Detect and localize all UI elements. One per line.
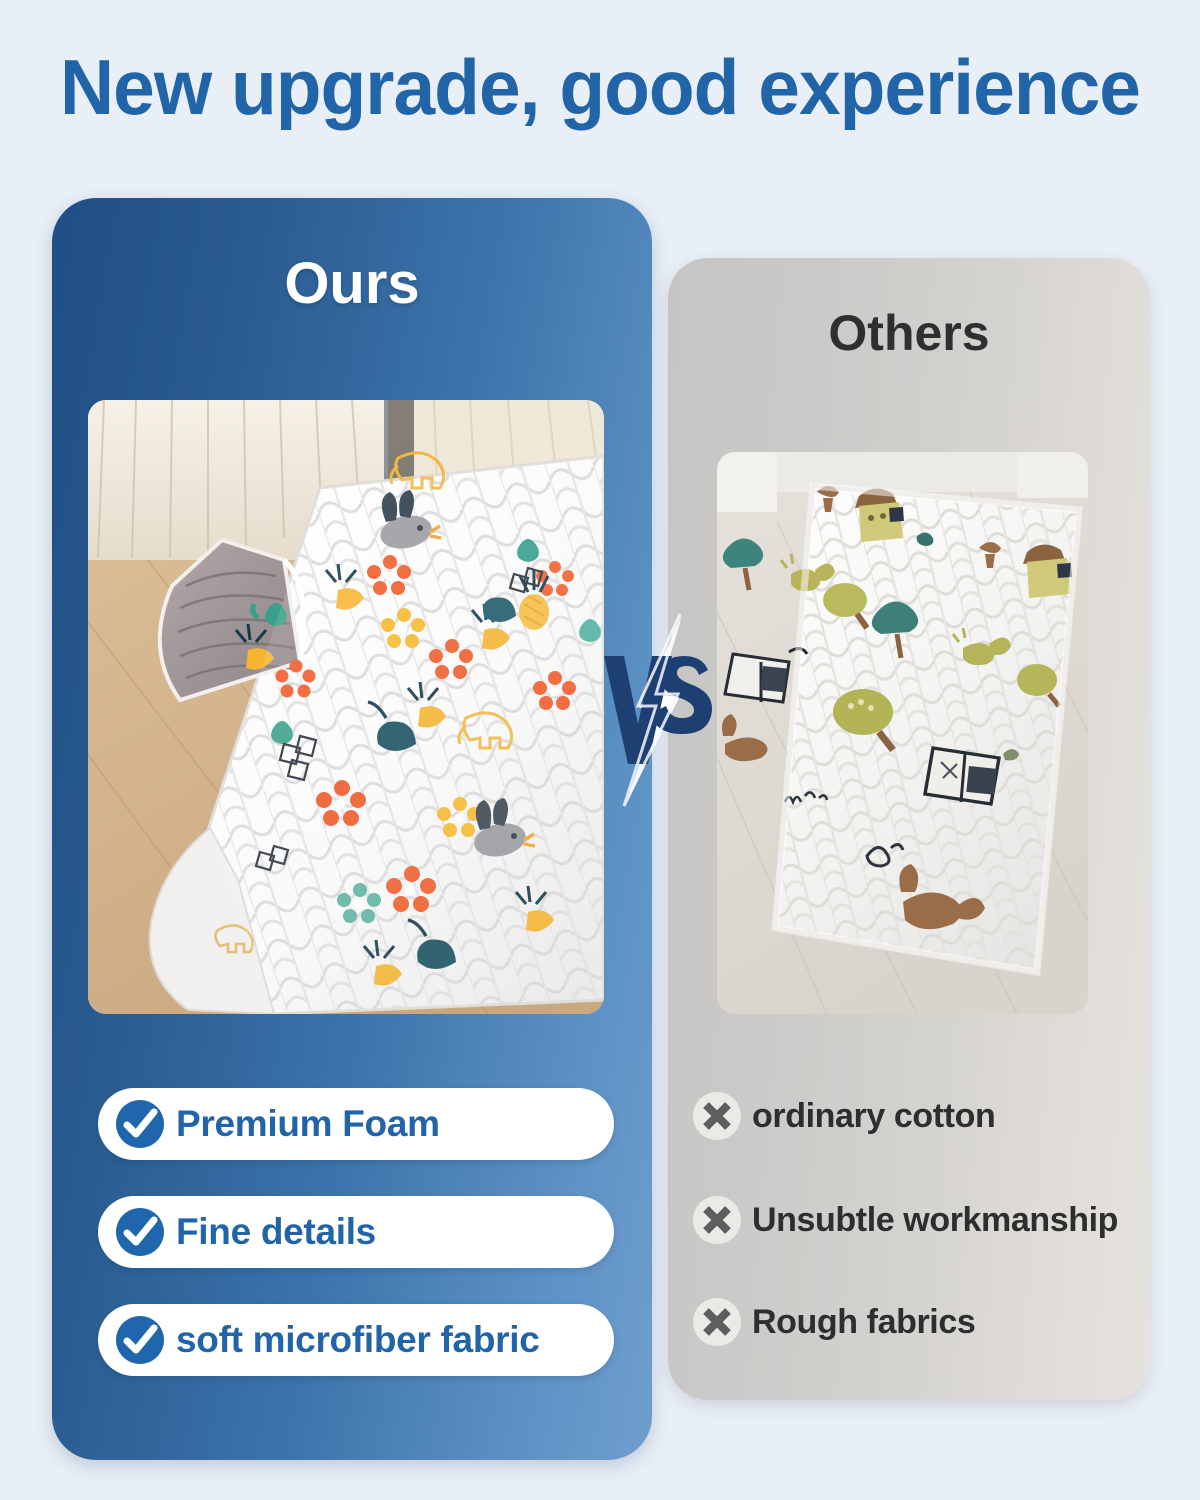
ours-feature-row[interactable]: Premium Foam: [98, 1088, 614, 1160]
others-feature-label: Rough fabrics: [752, 1303, 975, 1341]
others-feature-label: ordinary cotton: [752, 1097, 995, 1135]
others-feature-label: Unsubtle workmanship: [752, 1201, 1118, 1239]
product-photo-others: [717, 452, 1088, 1014]
check-circle-icon: [114, 1314, 166, 1366]
x-circle-icon: [692, 1091, 742, 1141]
check-circle-icon: [114, 1206, 166, 1258]
x-circle-icon: [692, 1195, 742, 1245]
others-feature-row[interactable]: Rough fabrics: [692, 1293, 1152, 1351]
ours-panel-heading: Ours: [52, 253, 652, 315]
others-feature-row[interactable]: Unsubtle workmanship: [692, 1191, 1152, 1249]
ours-feature-label: Fine details: [176, 1212, 376, 1252]
x-circle-icon: [692, 1297, 742, 1347]
comparison-area: Ours Others: [0, 0, 1200, 1500]
ours-feature-label: Premium Foam: [176, 1104, 440, 1144]
vs-lightning-badge: [596, 612, 720, 808]
product-photo-ours: [88, 400, 604, 1014]
others-panel-heading: Others: [668, 306, 1150, 360]
ours-feature-row[interactable]: Fine details: [98, 1196, 614, 1268]
check-circle-icon: [114, 1098, 166, 1150]
ours-feature-row[interactable]: soft microfiber fabric: [98, 1304, 614, 1376]
ours-feature-label: soft microfiber fabric: [176, 1320, 539, 1360]
others-feature-row[interactable]: ordinary cotton: [692, 1087, 1152, 1145]
